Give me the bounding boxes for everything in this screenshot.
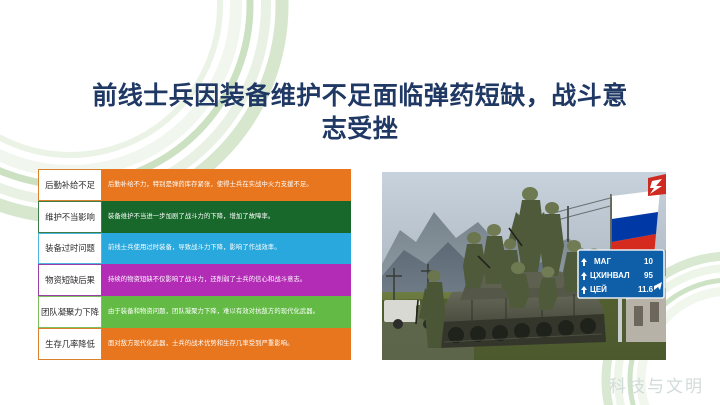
row-description: 装备维护不当进一步加剧了战斗力的下降，增加了故障率。 — [102, 201, 351, 233]
slide-canvas: 前线士兵因装备维护不足面临弹药短缺，战斗意 志受挫 后勤补给不足 后勤补给不力，… — [0, 0, 720, 405]
row-label: 维护不当影响 — [38, 201, 102, 233]
svg-text:МАГ: МАГ — [594, 257, 611, 266]
table-row: 装备过时问题 前线士兵使用过时装备，导致战斗力下降，影响了作战效率。 — [38, 233, 351, 265]
row-label: 装备过时问题 — [38, 233, 102, 265]
svg-text:11.6: 11.6 — [638, 285, 654, 294]
table-row: 物资短缺后果 持续的物资短缺不仅影响了战斗力，还削弱了士兵的信心和战斗意志。 — [38, 264, 351, 296]
svg-text:95: 95 — [644, 271, 653, 280]
row-label: 团队凝聚力下降 — [38, 296, 102, 328]
svg-text:ЦХИНВАЛ: ЦХИНВАЛ — [590, 271, 630, 280]
watermark-text: 科技与文明 — [609, 372, 704, 397]
row-label: 物资短缺后果 — [38, 264, 102, 296]
row-description: 后勤补给不力，特别是弹药库存紧张，使得士兵在实战中火力支援不足。 — [102, 169, 351, 201]
table-row: 后勤补给不足 后勤补给不力，特别是弹药库存紧张，使得士兵在实战中火力支援不足。 — [38, 169, 351, 201]
impact-matrix-table: 后勤补给不足 后勤补给不力，特别是弹药库存紧张，使得士兵在实战中火力支援不足。 … — [38, 169, 351, 360]
row-description: 由于装备和物资问题，团队凝聚力下降，难以有效对抗敌方的现代化武器。 — [102, 296, 351, 328]
svg-text:10: 10 — [644, 257, 653, 266]
svg-text:ЦЕЙ: ЦЕЙ — [590, 285, 607, 294]
row-description: 持续的物资短缺不仅影响了战斗力，还削弱了士兵的信心和战斗意志。 — [102, 264, 351, 296]
row-label: 后勤补给不足 — [38, 169, 102, 201]
row-description: 面对敌方现代化武器，士兵的战术优势和生存几率受到严重影响。 — [102, 328, 351, 360]
row-description: 前线士兵使用过时装备，导致战斗力下降，影响了作战效率。 — [102, 233, 351, 265]
slide-title: 前线士兵因装备维护不足面临弹药短缺，战斗意 志受挫 — [60, 80, 660, 146]
table-row: 维护不当影响 装备维护不当进一步加剧了战斗力的下降，增加了故障率。 — [38, 201, 351, 233]
table-row: 团队凝聚力下降 由于装备和物资问题，团队凝聚力下降，难以有效对抗敌方的现代化武器… — [38, 296, 351, 328]
row-label: 生存几率降低 — [38, 328, 102, 360]
photo-soldiers-on-tank: МАГ 10 ЦХИНВАЛ 95 ЦЕЙ 11.6 — [382, 172, 666, 360]
table-row: 生存几率降低 面对敌方现代化武器，士兵的战术优势和生存几率受到严重影响。 — [38, 328, 351, 360]
